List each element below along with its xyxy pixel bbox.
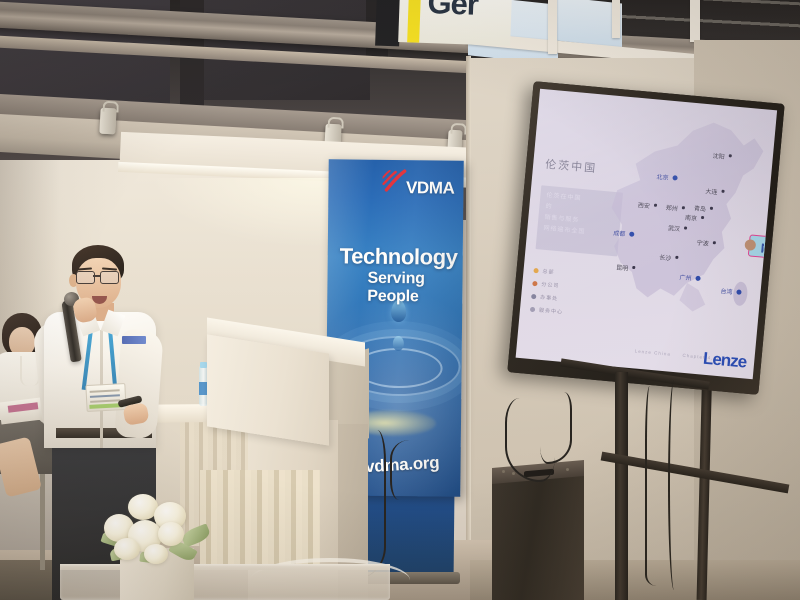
window-mullion xyxy=(612,0,620,38)
eyeglasses-icon xyxy=(76,271,120,283)
shirt-chest-logo xyxy=(122,336,146,344)
white-rose-bouquet xyxy=(100,492,220,562)
cable xyxy=(645,386,661,586)
rose xyxy=(144,544,168,564)
av-equipment-box xyxy=(492,470,584,600)
photo-scene: Ger 伦茨中国 伦茨在中国 的 销售与服务 网络遍布全国 北京沈 xyxy=(0,0,800,600)
spotlight-icon xyxy=(99,108,116,135)
bottle-cap xyxy=(200,362,207,368)
av-box-screw xyxy=(512,472,515,475)
tv-stand-post xyxy=(615,372,628,600)
window-mullion xyxy=(690,0,700,42)
av-box-screw xyxy=(502,470,505,473)
cable xyxy=(668,380,680,590)
flat-panel-tv: 伦茨中国 伦茨在中国 的 销售与服务 网络遍布全国 北京沈阳大连青岛西安郑州南京… xyxy=(507,81,784,395)
window-mullion xyxy=(548,0,557,54)
av-box-screw xyxy=(566,468,569,471)
venue-sign: Ger xyxy=(398,0,512,46)
cable xyxy=(390,440,418,500)
speaker-name-badge xyxy=(85,383,126,412)
rose xyxy=(114,538,140,560)
dark-corner-panel xyxy=(375,0,401,46)
venue-sign-stripe xyxy=(407,0,421,43)
rose xyxy=(158,522,184,546)
tv-screen: 伦茨中国 伦茨在中国 的 销售与服务 网络遍布全国 北京沈阳大连青岛西安郑州南京… xyxy=(516,89,777,379)
venue-sign-text: Ger xyxy=(427,0,479,23)
wall-seam xyxy=(466,56,471,600)
glass-coffee-table xyxy=(60,566,390,600)
cable xyxy=(540,392,572,464)
lectern-front xyxy=(207,334,329,445)
screen-glare xyxy=(516,89,777,379)
